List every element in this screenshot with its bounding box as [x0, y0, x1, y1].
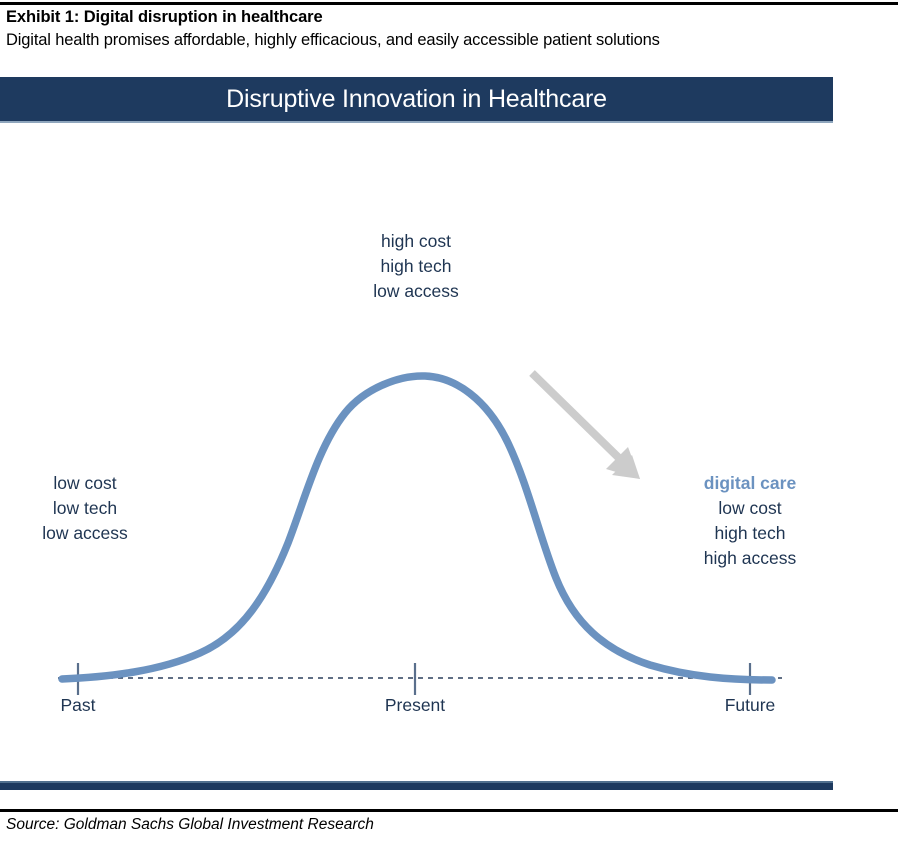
exhibit-subtitle: Digital health promises affordable, high…	[6, 31, 660, 50]
exhibit-page: Exhibit 1: Digital disruption in healthc…	[0, 0, 902, 846]
chart-title-banner: Disruptive Innovation in Healthcare	[0, 77, 833, 121]
annotation-peak-line-1: high cost	[316, 229, 516, 254]
annotation-past-line-3: low access	[10, 521, 160, 546]
top-divider	[0, 2, 898, 5]
annotation-past-line-2: low tech	[10, 496, 160, 521]
annotation-peak: high cost high tech low access	[316, 229, 516, 304]
annotation-future-line-1: low cost	[655, 496, 845, 521]
annotation-peak-line-2: high tech	[316, 254, 516, 279]
axis-label-future: Future	[700, 695, 800, 716]
chart-panel: Disruptive Innovation in Healthcare	[0, 77, 833, 777]
annotation-peak-line-3: low access	[316, 279, 516, 304]
annotation-past: low cost low tech low access	[10, 471, 160, 546]
annotation-future-heading: digital care	[655, 471, 845, 496]
source-note: Source: Goldman Sachs Global Investment …	[6, 816, 374, 834]
chart-title: Disruptive Innovation in Healthcare	[0, 77, 833, 121]
annotation-future-line-3: high access	[655, 546, 845, 571]
exhibit-title: Exhibit 1: Digital disruption in healthc…	[6, 8, 323, 27]
axis-label-past: Past	[28, 695, 128, 716]
plot-area: high cost high tech low access low cost …	[0, 123, 833, 777]
footer-divider	[0, 809, 898, 812]
footer-accent-bar-highlight	[0, 781, 833, 783]
annotation-future: digital care low cost high tech high acc…	[655, 471, 845, 571]
axis-label-present: Present	[365, 695, 465, 716]
annotation-future-line-2: high tech	[655, 521, 845, 546]
annotation-past-line-1: low cost	[10, 471, 160, 496]
innovation-curve-graphic	[0, 123, 833, 777]
downward-trend-arrow	[532, 373, 640, 479]
